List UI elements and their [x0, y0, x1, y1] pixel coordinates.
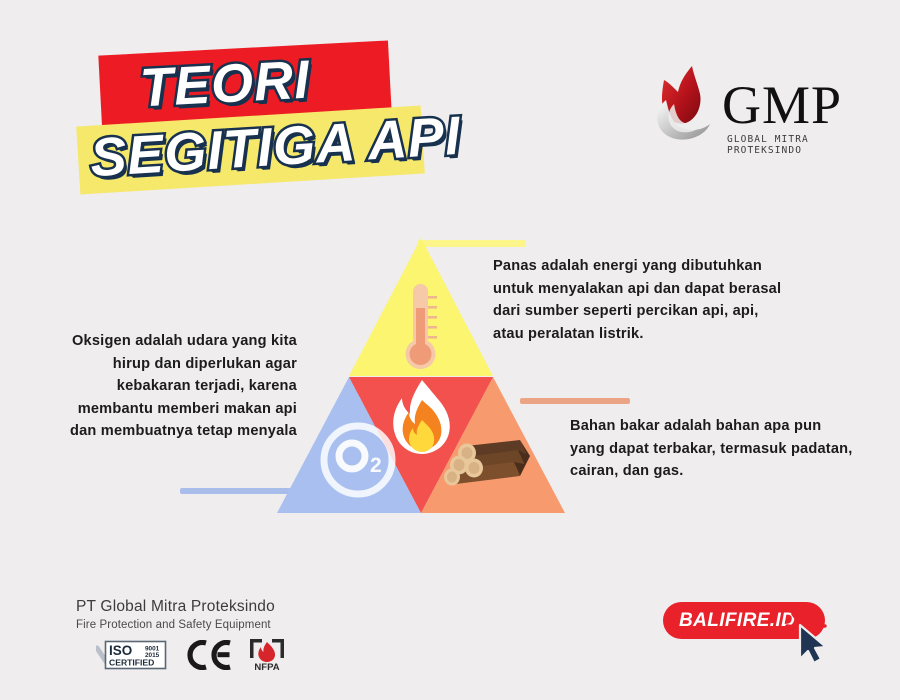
certification-badges: ISO 9001 2015 CERTIFIED NFPA	[96, 637, 286, 673]
gmp-subtitle: GLOBAL MITRA PROTEKSINDO	[727, 134, 855, 156]
ce-mark-badge	[187, 640, 231, 670]
gmp-logo: GMP GLOBAL MITRA PROTEKSINDO	[650, 58, 855, 158]
gmp-wordmark: GMP	[722, 78, 842, 132]
nfpa-badge: NFPA	[248, 637, 286, 673]
description-oxygen: Oksigen adalah udara yang kita hirup dan…	[62, 330, 297, 443]
cursor-click-icon	[783, 606, 839, 664]
iso-label: CERTIFIED	[109, 658, 154, 668]
iso-certified-badge: ISO 9001 2015 CERTIFIED	[96, 640, 170, 670]
balifire-cta[interactable]: BALIFIRE.ID	[663, 602, 838, 668]
infographic-canvas: TEORI SEGITIGA API	[0, 0, 900, 700]
gmp-logo-mark	[650, 60, 730, 148]
footer-company-name: PT Global Mitra Proteksindo	[76, 598, 275, 616]
nfpa-label: NFPA	[254, 662, 279, 673]
svg-text:2: 2	[370, 454, 382, 477]
footer-tagline: Fire Protection and Safety Equipment	[76, 619, 271, 631]
balifire-button-label: BALIFIRE.ID	[679, 610, 795, 632]
page-title-line1: TEORI	[139, 53, 312, 116]
iso-name: ISO	[109, 643, 132, 658]
description-heat: Panas adalah energi yang dibutuhkan untu…	[493, 255, 793, 345]
description-fuel: Bahan bakar adalah bahan apa pun yang da…	[570, 415, 860, 483]
title-block: TEORI SEGITIGA API	[78, 42, 498, 197]
